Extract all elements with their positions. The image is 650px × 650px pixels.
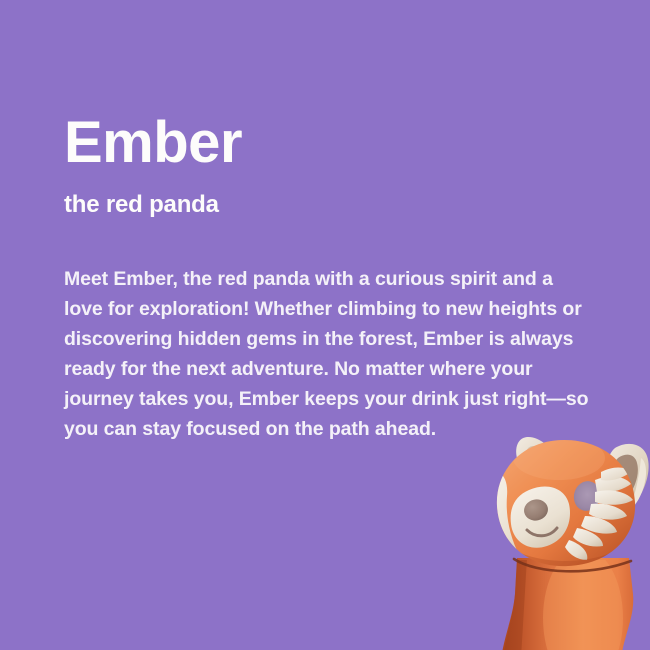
- promo-card: Ember the red panda Meet Ember, the red …: [0, 0, 650, 650]
- page-title: Ember: [64, 112, 609, 174]
- red-panda-bottle-illustration: [455, 418, 650, 650]
- page-subtitle: the red panda: [64, 190, 609, 220]
- text-block: Ember the red panda Meet Ember, the red …: [64, 112, 609, 444]
- description-paragraph: Meet Ember, the red panda with a curious…: [64, 264, 594, 444]
